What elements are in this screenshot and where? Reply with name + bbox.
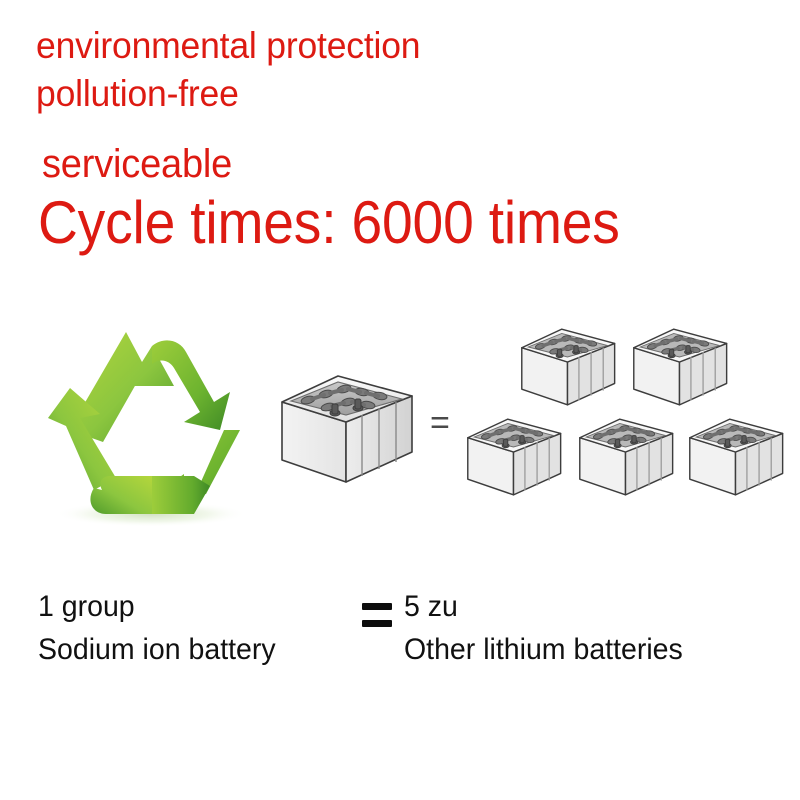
illustration-row: =: [0, 300, 800, 560]
lithium-battery-4: [572, 402, 684, 502]
headline-line-environmental-protection: environmental protection: [36, 22, 746, 70]
caption-left: 1 group Sodium ion battery: [38, 585, 358, 671]
headline-line-pollution-free: pollution-free: [36, 70, 746, 118]
headline-line-cycle-times: Cycle times: 6000 times: [38, 190, 717, 256]
lithium-battery-5: [682, 402, 794, 502]
lithium-battery-2: [626, 312, 738, 412]
caption-row: 1 group Sodium ion battery 5 zu Other li…: [0, 585, 800, 695]
lithium-battery-1: [514, 312, 626, 412]
caption-right-line-2: Other lithium batteries: [404, 628, 775, 671]
equals-bar-bottom: [362, 620, 392, 627]
infographic-canvas: environmental protection pollution-free …: [0, 0, 800, 800]
caption-right-line-1: 5 zu: [404, 585, 775, 628]
recycling-symbol-icon: [34, 318, 268, 544]
sodium-ion-battery-illustration: [272, 352, 427, 492]
lithium-battery-3: [460, 402, 572, 502]
lithium-battery-group: [460, 300, 800, 515]
caption-equals-sign: [360, 599, 400, 639]
headline-block: environmental protection pollution-free …: [36, 22, 776, 256]
equals-sign-illustration: =: [430, 408, 458, 438]
caption-left-line-2: Sodium ion battery: [38, 628, 342, 671]
caption-left-line-1: 1 group: [38, 585, 342, 628]
caption-right: 5 zu Other lithium batteries: [404, 585, 794, 671]
equals-bar-top: [362, 603, 392, 610]
headline-line-serviceable: serviceable: [42, 140, 739, 188]
